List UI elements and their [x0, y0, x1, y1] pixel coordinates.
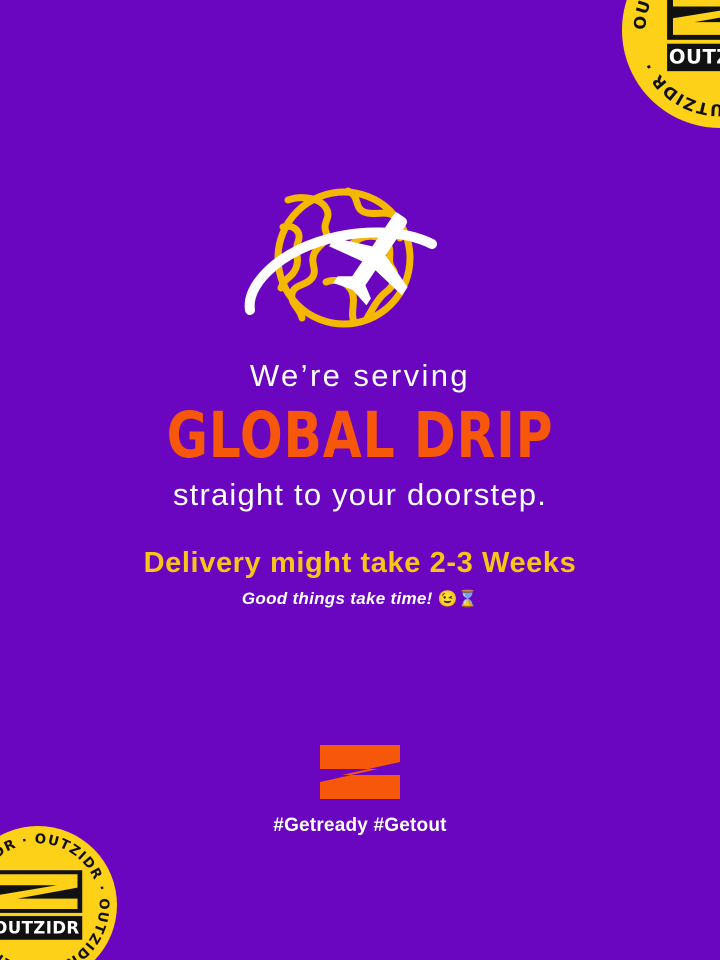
outzidr-z-logo-icon [320, 745, 400, 799]
seal-wordmark: OUTZIDR [0, 918, 80, 937]
seal-core: OUTZIDR [0, 870, 82, 940]
page-title: GLOBAL DRIP [72, 404, 648, 467]
seal-wordmark: OUTZIDR [669, 45, 720, 68]
globe-airplane-graphic [236, 182, 484, 342]
reassurance-text: Good things take time! 😉⌛ [0, 590, 720, 609]
wink-hourglass-emoji: 😉⌛ [438, 591, 478, 608]
eyebrow-text: We’re serving [0, 360, 720, 393]
footer-brand-block: #Getready #Getout [0, 745, 720, 837]
delivery-time-text: Delivery might take 2-3 Weeks [0, 548, 720, 579]
delivery-notice-block: Delivery might take 2-3 Weeks Good thing… [0, 548, 720, 609]
promo-poster: OUTZIDR · OUTZIDR · OUTZIDR · OUTZIDR · … [0, 0, 720, 960]
subline-text: straight to your doorstep. [0, 479, 720, 512]
headline-block: We’re serving GLOBAL DRIP straight to yo… [0, 360, 720, 511]
hashtags-text: #Getready #Getout [0, 815, 720, 837]
reassurance-label: Good things take time! [242, 589, 433, 608]
outzidr-seal-top-right: OUTZIDR · OUTZIDR · OUTZIDR · OUTZIDR · … [622, 0, 720, 128]
outzidr-seal-bottom-left: OUTZIDR · OUTZIDR · OUTZIDR · OUTZIDR · … [0, 826, 117, 960]
seal-core: OUTZIDR [667, 0, 720, 71]
